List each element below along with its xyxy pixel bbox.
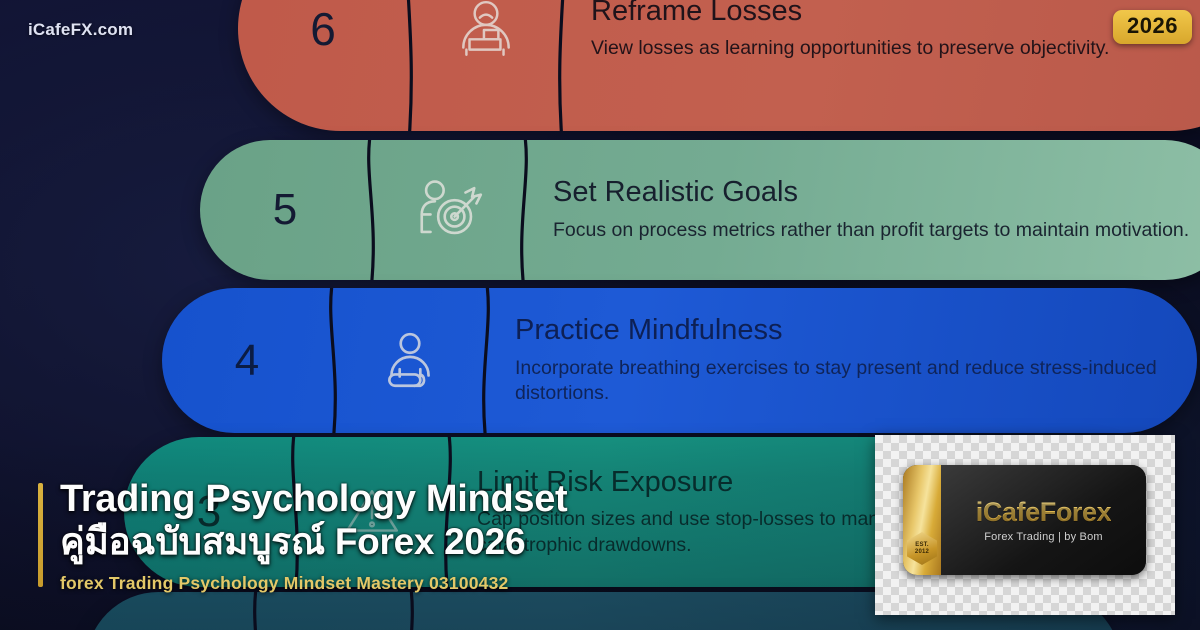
- logo-card: EST. 2012 iCafeForex Forex Trading | by …: [875, 435, 1175, 615]
- step-desc-5: Focus on process metrics rather than pro…: [553, 218, 1200, 244]
- year-badge: 2026: [1113, 10, 1192, 44]
- step-icon-4: [332, 328, 487, 394]
- brand-name: iCafeForex: [976, 497, 1112, 528]
- step-text-6: Reframe Losses View losses as learning o…: [563, 0, 1200, 68]
- step-title-4: Practice Mindfulness: [515, 314, 1171, 346]
- step-number-4: 4: [162, 336, 332, 386]
- step-number-5: 5: [200, 185, 370, 235]
- logo-body: iCafeForex Forex Trading | by Bom: [941, 465, 1146, 575]
- est-badge-icon: EST. 2012: [907, 532, 937, 565]
- step-desc-6: View losses as learning opportunities to…: [591, 36, 1200, 62]
- step-row-6[interactable]: 6 Reframe Losses View losses as l: [238, 0, 1200, 131]
- est-line-2: 2012: [915, 549, 929, 555]
- overlay-title-th: คู่มือฉบับสมบูรณ์ Forex 2026: [60, 521, 567, 564]
- step-title-5: Set Realistic Goals: [553, 176, 1200, 208]
- step-title-6: Reframe Losses: [591, 0, 1200, 27]
- accent-bar: [38, 483, 43, 587]
- step-icon-6: [408, 0, 563, 62]
- row-divider: [399, 592, 421, 630]
- step-row-5[interactable]: 5 Set Realistic Goa: [200, 140, 1200, 280]
- infographic-canvas: iCafeFX.com 6 Refram: [0, 0, 1200, 630]
- logo-gold-strip: EST. 2012: [903, 465, 941, 575]
- step-row-4[interactable]: 4 Practice Mindfulness Incorporate breat…: [162, 288, 1197, 433]
- step-icon-5: [370, 175, 525, 245]
- step-text-4: Practice Mindfulness Incorporate breathi…: [487, 308, 1197, 413]
- step-number-6: 6: [238, 2, 408, 56]
- logo-plate: EST. 2012 iCafeForex Forex Trading | by …: [903, 465, 1146, 575]
- step-text-5: Set Realistic Goals Focus on process met…: [525, 170, 1200, 249]
- overlay-title-en: Trading Psychology Mindset: [60, 477, 567, 521]
- brand-tagline: Forex Trading | by Bom: [984, 531, 1103, 543]
- overlay-subtitle: forex Trading Psychology Mindset Mastery…: [60, 573, 567, 594]
- step-desc-4: Incorporate breathing exercises to stay …: [515, 356, 1171, 407]
- title-overlay: Trading Psychology Mindset คู่มือฉบับสมบ…: [38, 477, 567, 594]
- site-watermark: iCafeFX.com: [28, 20, 133, 40]
- row-divider: [246, 592, 268, 630]
